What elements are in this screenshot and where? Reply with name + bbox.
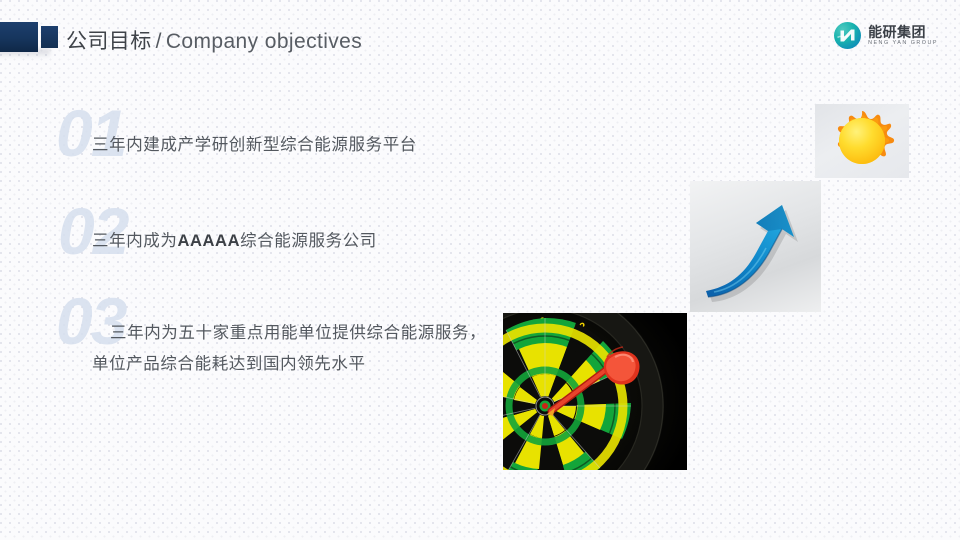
sun-icon xyxy=(815,104,909,178)
ribbon-band xyxy=(0,22,38,52)
objective-text-after: 综合能源服务公司 xyxy=(240,232,377,250)
upward-arrow-icon xyxy=(690,181,821,312)
page-title-separator: / xyxy=(156,30,162,53)
slide-header: 公司目标/Company objectives 能研集团 NENG YAN GR… xyxy=(0,0,960,74)
page-title: 公司目标/Company objectives xyxy=(66,25,362,55)
objective-item: 03 三年内为五十家重点用能单位提供综合能源服务，单位产品综合能耗达到国内领先水… xyxy=(0,300,560,379)
logo-wordmark: 能研集团 NENG YAN GROUP xyxy=(868,25,938,47)
dart-on-target-icon: 9 6 12 5 1 18 4 xyxy=(503,313,687,470)
objective-text: 三年内为五十家重点用能单位提供综合能源服务，单位产品综合能耗达到国内领先水平 xyxy=(92,300,492,379)
dartboard-photo: 9 6 12 5 1 18 4 xyxy=(503,313,687,470)
page-title-cn: 公司目标 xyxy=(66,30,152,53)
header-ribbon-decoration xyxy=(0,22,58,52)
logo-name-cn: 能研集团 xyxy=(868,25,938,39)
logo-name-en: NENG YAN GROUP xyxy=(868,41,938,46)
objectives-list: 01 三年内建成产学研创新型综合能源服务平台 02 三年内成为AAAAA综合能源… xyxy=(0,112,560,415)
objective-text: 三年内成为AAAAA综合能源服务公司 xyxy=(92,208,492,257)
company-logo: 能研集团 NENG YAN GROUP xyxy=(834,22,938,49)
objective-text: 三年内建成产学研创新型综合能源服务平台 xyxy=(92,112,492,161)
objective-item: 02 三年内成为AAAAA综合能源服务公司 xyxy=(0,208,560,268)
growth-arrow-photo xyxy=(690,181,821,312)
objective-text-before: 三年内成为 xyxy=(92,232,178,250)
sun-photo xyxy=(815,104,909,178)
logo-emblem-icon xyxy=(834,22,861,49)
page-title-en: Company objectives xyxy=(166,30,362,53)
ribbon-shadow xyxy=(0,49,50,58)
ribbon-tip xyxy=(41,26,58,48)
objective-text-emphasis: AAAAA xyxy=(178,232,241,250)
objective-item: 01 三年内建成产学研创新型综合能源服务平台 xyxy=(0,112,560,172)
slide-canvas: 公司目标/Company objectives 能研集团 NENG YAN GR… xyxy=(0,0,960,540)
